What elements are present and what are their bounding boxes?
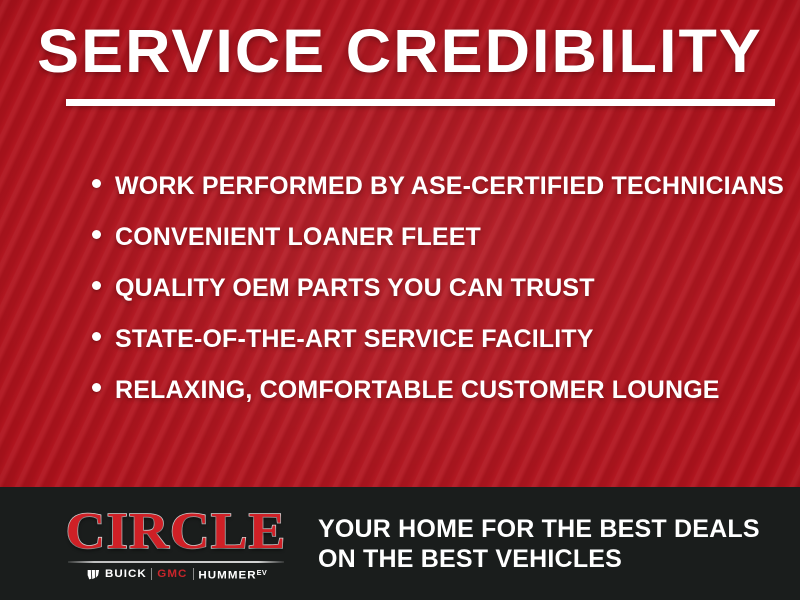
- list-item-label: RELAXING, COMFORTABLE CUSTOMER LOUNGE: [115, 376, 720, 404]
- footer-tagline: YOUR HOME FOR THE BEST DEALS ON THE BEST…: [318, 514, 760, 574]
- list-item: CONVENIENT LOANER FLEET: [92, 223, 760, 274]
- page-title: SERVICE CREDIBILITY: [0, 18, 800, 84]
- footer-tagline-line2: ON THE BEST VEHICLES: [318, 544, 760, 574]
- list-item: WORK PERFORMED BY ASE-CERTIFIED TECHNICI…: [92, 172, 760, 223]
- bullet-dot-icon: [92, 383, 101, 392]
- brand-strip: BUICK GMC HUMMEREV: [56, 567, 296, 582]
- brand-label-hummer-ev-suffix: EV: [257, 570, 267, 577]
- brand-separator: [193, 568, 194, 580]
- benefits-list: WORK PERFORMED BY ASE-CERTIFIED TECHNICI…: [92, 172, 760, 427]
- list-item: RELAXING, COMFORTABLE CUSTOMER LOUNGE: [92, 376, 760, 427]
- list-item-label: STATE-OF-THE-ART SERVICE FACILITY: [115, 325, 594, 353]
- list-item-label: CONVENIENT LOANER FLEET: [115, 223, 481, 251]
- title-divider: [66, 99, 775, 106]
- bullet-dot-icon: [92, 332, 101, 341]
- logo-wordmark: CIRCLE: [49, 506, 303, 558]
- logo-divider: [68, 561, 284, 563]
- list-item-label: QUALITY OEM PARTS YOU CAN TRUST: [115, 274, 595, 302]
- circle-dealership-logo: CIRCLE BUICK GMC HUMMEREV: [56, 506, 296, 582]
- brand-label-hummer-text: HUMMER: [198, 569, 256, 581]
- brand-label-buick: BUICK: [105, 568, 147, 580]
- list-item: QUALITY OEM PARTS YOU CAN TRUST: [92, 274, 760, 325]
- buick-tri-shield-icon: [87, 568, 100, 581]
- brand-separator: [151, 568, 152, 580]
- brand-label-gmc: GMC: [158, 568, 188, 580]
- footer-tagline-line1: YOUR HOME FOR THE BEST DEALS: [318, 514, 760, 544]
- bullet-dot-icon: [92, 179, 101, 188]
- brand-label-hummer: HUMMEREV: [198, 567, 267, 582]
- slide-footer: CIRCLE BUICK GMC HUMMEREV YOUR HOME FOR …: [0, 487, 800, 600]
- bullet-dot-icon: [92, 281, 101, 290]
- service-credibility-slide: SERVICE CREDIBILITY WORK PERFORMED BY AS…: [0, 0, 800, 600]
- list-item-label: WORK PERFORMED BY ASE-CERTIFIED TECHNICI…: [115, 172, 784, 200]
- list-item: STATE-OF-THE-ART SERVICE FACILITY: [92, 325, 760, 376]
- slide-header: SERVICE CREDIBILITY: [0, 0, 800, 118]
- bullet-dot-icon: [92, 230, 101, 239]
